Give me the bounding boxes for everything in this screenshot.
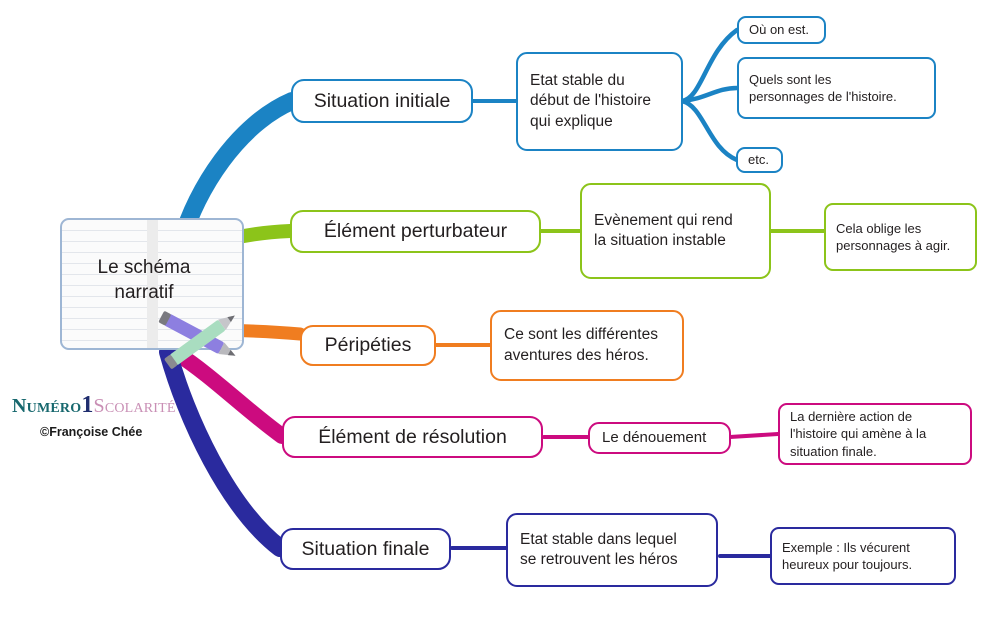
node-label: Péripéties <box>325 334 412 357</box>
node-situation-initiale-leaf-2[interactable]: Quels sont les personnages de l'histoire… <box>737 57 936 119</box>
node-element-de-resolution-detail[interactable]: Le dénouement <box>588 422 731 454</box>
node-situation-finale-detail[interactable]: Etat stable dans lequel se retrouvent le… <box>506 513 718 587</box>
node-situation-initiale-detail[interactable]: Etat stable du début de l'histoire qui e… <box>516 52 683 151</box>
logo-credit: ©Françoise Chée <box>40 425 212 439</box>
node-text: Evènement qui rend la situation instable <box>594 211 733 252</box>
logo-numero-text: Numéro <box>12 395 81 417</box>
node-element-perturbateur[interactable]: Élément perturbateur <box>290 210 541 253</box>
logo: Numéro1Scolarité ©Françoise Chée <box>12 392 212 439</box>
node-element-de-resolution[interactable]: Élément de résolution <box>282 416 543 458</box>
node-text: Où on est. <box>749 21 809 38</box>
node-label: Situation initiale <box>314 90 451 113</box>
node-text: Etat stable dans lequel se retrouvent le… <box>520 530 678 571</box>
logo-wordmark: Numéro1Scolarité <box>12 392 212 419</box>
node-text: Etat stable du début de l'histoire qui e… <box>530 71 651 132</box>
node-peripeties-detail[interactable]: Ce sont les différentes aventures des hé… <box>490 310 684 381</box>
node-text: Ce sont les différentes aventures des hé… <box>504 325 658 366</box>
branch-line-navy <box>168 352 280 548</box>
node-element-de-resolution-leaf-1[interactable]: La dernière action de l'histoire qui amè… <box>778 403 972 465</box>
node-label: Élément perturbateur <box>324 220 507 243</box>
node-text: Quels sont les personnages de l'histoire… <box>749 71 897 106</box>
node-peripeties[interactable]: Péripéties <box>300 325 436 366</box>
node-element-perturbateur-detail[interactable]: Evènement qui rend la situation instable <box>580 183 771 279</box>
node-situation-initiale-leaf-3[interactable]: etc. <box>736 147 783 173</box>
node-label: Situation finale <box>302 538 430 561</box>
branch-line-magenta-leaf-1 <box>730 434 778 437</box>
node-text: Le dénouement <box>602 428 706 448</box>
node-text: Exemple : Ils vécurent heureux pour touj… <box>782 539 912 574</box>
node-situation-finale[interactable]: Situation finale <box>280 528 451 570</box>
node-element-perturbateur-leaf-1[interactable]: Cela oblige les personnages à agir. <box>824 203 977 271</box>
branch-line-blue-leaf-3 <box>682 101 737 160</box>
branch-line-blue-leaf-1 <box>682 30 737 101</box>
node-text: La dernière action de l'histoire qui amè… <box>790 408 926 460</box>
node-situation-initiale-leaf-1[interactable]: Où on est. <box>737 16 826 44</box>
node-text: Cela oblige les personnages à agir. <box>836 220 950 255</box>
pencils-icon <box>148 302 258 374</box>
center-node[interactable]: Le schéma narratif <box>52 214 252 362</box>
node-text: etc. <box>748 151 769 168</box>
mind-map-canvas: Le schéma narratif Numéro1Scolarité ©Fra… <box>0 0 985 619</box>
logo-one-text: 1 <box>81 392 93 418</box>
node-situation-initiale[interactable]: Situation initiale <box>291 79 473 123</box>
branch-line-blue-leaf-2 <box>682 88 737 101</box>
node-label: Élément de résolution <box>318 426 507 449</box>
node-situation-finale-leaf-1[interactable]: Exemple : Ils vécurent heureux pour touj… <box>770 527 956 585</box>
logo-scolarite-text: Scolarité <box>94 395 176 417</box>
